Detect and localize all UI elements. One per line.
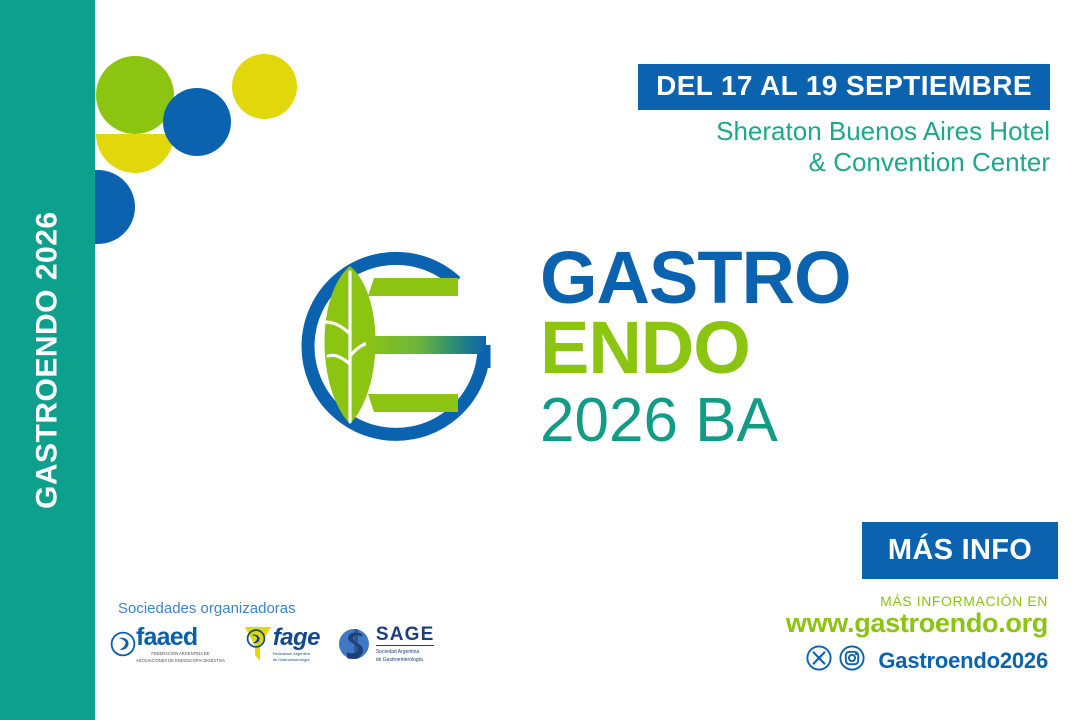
fage-subtitle-2: de Gastroenterología [273, 658, 320, 662]
blue-circle-decoration [163, 88, 231, 156]
organizer-logo-faaed: faaed FEDERACIÓN ARGENTINA DE ASOCIACION… [110, 625, 225, 663]
sage-name: SAGE [376, 625, 435, 644]
faaed-subtitle-2: ASOCIACIONES DE ENDOSCOPIA DIGESTIVA [136, 659, 225, 664]
sage-divider [376, 645, 435, 646]
gastroendo-logo-mark [288, 238, 518, 460]
mas-info-button[interactable]: MÁS INFO [862, 522, 1058, 579]
yellow-half-circle-decoration [96, 134, 174, 173]
organizers-title: Sociedades organizadoras [118, 600, 296, 617]
gastroendo-wordmark: GASTRO ENDO 2026 BA [540, 244, 851, 449]
event-date-banner: DEL 17 AL 19 SEPTIEMBRE [638, 64, 1050, 110]
sage-subtitle-1: Sociedad Argentina [376, 650, 435, 656]
organizer-logos: faaed FEDERACIÓN ARGENTINA DE ASOCIACION… [110, 624, 434, 664]
wordmark-gastro: GASTRO [540, 244, 851, 312]
venue-line-1: Sheraton Buenos Aires Hotel [630, 116, 1050, 147]
fage-name: fage [273, 626, 320, 650]
website-url[interactable]: www.gastroendo.org [786, 608, 1048, 639]
social-handle: Gastroendo2026 [878, 648, 1048, 674]
event-promo-banner: GASTROENDO 2026 DEL 17 AL 19 SEPTIEMBRE … [0, 0, 1080, 720]
faaed-subtitle-1: FEDERACIÓN ARGENTINA DE [136, 652, 225, 657]
venue-block: Sheraton Buenos Aires Hotel & Convention… [630, 116, 1050, 177]
x-twitter-icon[interactable] [806, 645, 832, 676]
faaed-emblem-icon [110, 631, 136, 657]
yellow-circle-decoration [232, 54, 297, 119]
blue-half-circle-decoration [95, 170, 135, 244]
wordmark-year-location: 2026 BA [540, 392, 851, 449]
faaed-name: faaed [136, 625, 225, 650]
organizer-logo-fage: fage Federación Argentina de Gastroenter… [243, 624, 320, 664]
instagram-icon[interactable] [839, 645, 865, 676]
more-information-label: MÁS INFORMACIÓN EN [880, 593, 1048, 609]
venue-line-2: & Convention Center [630, 147, 1050, 178]
fage-emblem-icon [243, 624, 273, 664]
social-media-row: Gastroendo2026 [806, 645, 1048, 676]
sage-emblem-icon [338, 625, 372, 663]
wordmark-endo: ENDO [540, 314, 851, 382]
sidebar-vertical-title: GASTROENDO 2026 [0, 0, 95, 720]
organizer-logo-sage: SAGE Sociedad Argentina de Gastroenterol… [338, 625, 435, 664]
fage-subtitle-1: Federación Argentina [273, 652, 320, 656]
sage-subtitle-2: de Gastroenterología [376, 658, 435, 664]
